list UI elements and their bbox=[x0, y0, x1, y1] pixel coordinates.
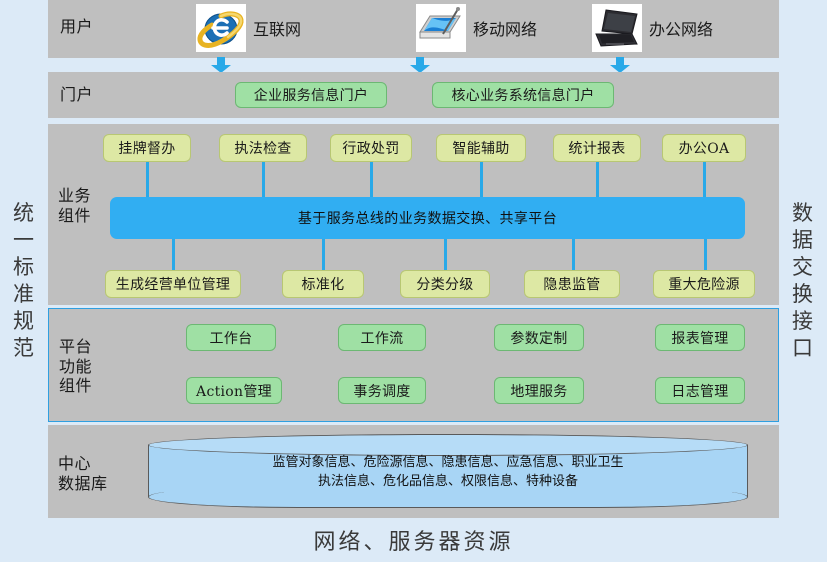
connector-top-4 bbox=[480, 162, 483, 198]
device-mobile-network: 移动网络 bbox=[416, 4, 537, 52]
connector-top-3 bbox=[370, 162, 373, 198]
business-item-zhongdaweixianyuan[interactable]: 重大危险源 bbox=[653, 270, 755, 298]
database-label-line2: 数据库 bbox=[58, 474, 108, 494]
business-item-shengchengjingying[interactable]: 生成经营单位管理 bbox=[105, 270, 241, 298]
right-rail-label: 数据交换接口 bbox=[790, 200, 816, 361]
right-rail-data-exchange-interface: 数据交换接口 bbox=[779, 0, 827, 562]
connector-top-6 bbox=[703, 162, 706, 198]
business-item-zhifajiancha[interactable]: 执法检查 bbox=[219, 134, 307, 162]
connector-top-1 bbox=[146, 162, 149, 198]
platform-label-line3: 组件 bbox=[59, 376, 92, 396]
platform-item-shiwudiaodu[interactable]: 事务调度 bbox=[338, 377, 426, 404]
connector-bottom-4 bbox=[572, 239, 575, 271]
business-label-line1: 业务 bbox=[58, 186, 91, 206]
platform-item-gongzuotai[interactable]: 工作台 bbox=[186, 324, 276, 351]
down-arrow-icon-mobile bbox=[410, 57, 430, 73]
central-database-label: 中心 数据库 bbox=[58, 454, 108, 493]
connector-top-2 bbox=[262, 162, 265, 198]
service-bus-platform[interactable]: 基于服务总线的业务数据交换、共享平台 bbox=[110, 197, 745, 239]
business-item-tongjibaobiao[interactable]: 统计报表 bbox=[553, 134, 641, 162]
down-arrow-icon-office bbox=[610, 57, 630, 73]
platform-components-label: 平台 功能 组件 bbox=[59, 337, 92, 396]
platform-item-baobiaoguanli[interactable]: 报表管理 bbox=[655, 324, 745, 351]
platform-label-line2: 功能 bbox=[59, 357, 92, 377]
platform-item-gongzuoliu[interactable]: 工作流 bbox=[338, 324, 426, 351]
platform-label-line1: 平台 bbox=[59, 337, 92, 357]
device-internet-caption: 互联网 bbox=[253, 16, 301, 40]
architecture-diagram: 统一标准规范 数据交换接口 用户 互联网 bbox=[0, 0, 827, 562]
connector-bottom-2 bbox=[322, 239, 325, 271]
down-arrow-icon-internet bbox=[211, 57, 231, 73]
platform-item-canshudingzhi[interactable]: 参数定制 bbox=[494, 324, 584, 351]
connector-bottom-3 bbox=[444, 239, 447, 271]
users-layer-label: 用户 bbox=[60, 17, 93, 37]
left-rail-label: 统一标准规范 bbox=[11, 200, 37, 361]
database-label-line1: 中心 bbox=[58, 454, 108, 474]
portal-item-core-business[interactable]: 核心业务系统信息门户 bbox=[432, 82, 614, 108]
cylinder-top bbox=[148, 434, 748, 456]
platform-item-rizhiguanli[interactable]: 日志管理 bbox=[655, 377, 745, 404]
connector-top-5 bbox=[596, 162, 599, 198]
business-item-bangongoa[interactable]: 办公OA bbox=[662, 134, 746, 162]
device-mobile-caption: 移动网络 bbox=[473, 16, 537, 40]
device-office-caption: 办公网络 bbox=[649, 16, 713, 40]
footer-network-server-resources: 网络、服务器资源 bbox=[0, 524, 827, 556]
business-components-label: 业务 组件 bbox=[58, 186, 91, 225]
business-item-guapaiduban[interactable]: 挂牌督办 bbox=[103, 134, 191, 162]
business-item-biaozhunhua[interactable]: 标准化 bbox=[282, 270, 364, 298]
device-office-network: 办公网络 bbox=[592, 4, 713, 52]
internet-explorer-icon bbox=[196, 4, 246, 52]
connector-bottom-1 bbox=[172, 239, 175, 271]
left-rail-unified-standard: 统一标准规范 bbox=[0, 0, 48, 562]
database-cylinder[interactable]: 监管对象信息、危险源信息、隐患信息、应急信息、职业卫生 执法信息、危化品信息、权… bbox=[148, 434, 748, 508]
business-item-yinhuanjianguan[interactable]: 隐患监管 bbox=[524, 270, 620, 298]
tablet-stylus-icon bbox=[416, 4, 466, 52]
database-content-line2: 执法信息、危化品信息、权限信息、特种设备 bbox=[148, 473, 748, 492]
laptop-icon bbox=[592, 4, 642, 52]
database-content: 监管对象信息、危险源信息、隐患信息、应急信息、职业卫生 执法信息、危化品信息、权… bbox=[148, 454, 748, 492]
business-item-xingzhengchufa[interactable]: 行政处罚 bbox=[330, 134, 412, 162]
portal-layer: 门户 bbox=[48, 72, 779, 118]
business-item-fenleifenji[interactable]: 分类分级 bbox=[400, 270, 490, 298]
portal-layer-label: 门户 bbox=[60, 85, 93, 105]
device-internet: 互联网 bbox=[196, 4, 301, 52]
platform-item-action-guanli[interactable]: Action管理 bbox=[186, 377, 282, 404]
business-label-line2: 组件 bbox=[58, 206, 91, 226]
connector-bottom-5 bbox=[704, 239, 707, 271]
platform-item-dilifuwu[interactable]: 地理服务 bbox=[494, 377, 584, 404]
database-content-line1: 监管对象信息、危险源信息、隐患信息、应急信息、职业卫生 bbox=[148, 454, 748, 473]
portal-item-enterprise-service[interactable]: 企业服务信息门户 bbox=[235, 82, 387, 108]
business-item-zhinengfuzhu[interactable]: 智能辅助 bbox=[436, 134, 526, 162]
